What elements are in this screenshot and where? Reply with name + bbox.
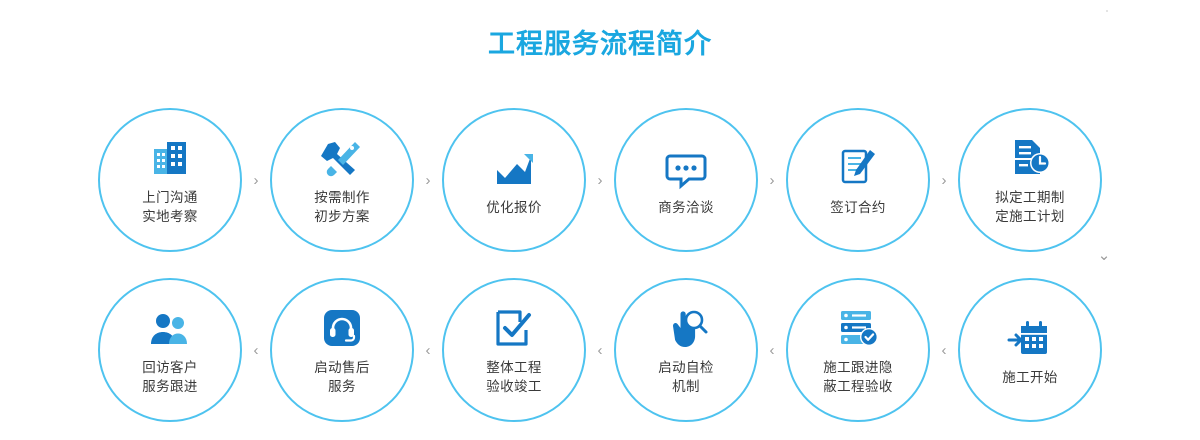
server-check-icon	[836, 304, 880, 350]
flow-node-label: 商务洽谈	[658, 198, 714, 217]
flow-node-shangmen-goutong[interactable]: 上门沟通 实地考察	[98, 108, 242, 252]
flow-node-label: 签订合约	[830, 198, 886, 217]
flow-separator: ‹	[930, 278, 958, 422]
flow-node-shigong-kaishi[interactable]: 施工开始	[958, 278, 1102, 422]
flow-node-niding-gongqi[interactable]: 拟定工期制 定施工计划	[958, 108, 1102, 252]
flow-node-label: 按需制作 初步方案	[314, 188, 370, 226]
page-title: 工程服务流程简介	[0, 22, 1200, 61]
tools-icon	[319, 134, 365, 180]
chat-bubble-icon	[663, 144, 709, 190]
flow-node-youhua-baojia[interactable]: 优化报价	[442, 108, 586, 252]
flow-separator: ›	[930, 108, 958, 252]
flow-row-2: 回访客户 服务跟进 ‹ 启动售后 服务 ‹ 整体工程 验收竣工 ‹	[0, 265, 1200, 435]
flow-node-label: 整体工程 验收竣工	[486, 358, 542, 396]
flow-node-label: 上门沟通 实地考察	[142, 188, 198, 226]
flow-row-1: 上门沟通 实地考察 › 按需制作 初步方案 › 优化报价	[0, 95, 1200, 265]
decorative-dot	[1106, 10, 1108, 12]
flow-node-label: 启动售后 服务	[314, 358, 370, 396]
flow-separator: ‹	[414, 278, 442, 422]
users-icon	[147, 304, 193, 350]
flow-separator: ‹	[586, 278, 614, 422]
flow-separator: ›	[758, 108, 786, 252]
flow-node-shigong-genjin[interactable]: 施工跟进隐 蔽工程验收	[786, 278, 930, 422]
document-clock-icon	[1008, 134, 1052, 180]
flow-node-qidong-shouhou[interactable]: 启动售后 服务	[270, 278, 414, 422]
building-icon	[148, 134, 192, 180]
flow-node-huifang-kehu[interactable]: 回访客户 服务跟进	[98, 278, 242, 422]
checkbox-icon	[492, 304, 536, 350]
calendar-arrow-icon	[1007, 314, 1053, 360]
chart-down-icon	[491, 144, 537, 190]
flow-node-label: 回访客户 服务跟进	[142, 358, 198, 396]
contract-pen-icon	[836, 144, 880, 190]
flow-node-anxu-zhizuo[interactable]: 按需制作 初步方案	[270, 108, 414, 252]
flow-separator: ‹	[242, 278, 270, 422]
flow-node-qianding-heyue[interactable]: 签订合约	[786, 108, 930, 252]
flow-separator: ‹	[758, 278, 786, 422]
flow-node-label: 启动自检 机制	[658, 358, 714, 396]
flow-node-qidong-zijian[interactable]: 启动自检 机制	[614, 278, 758, 422]
flow-node-label: 施工跟进隐 蔽工程验收	[823, 358, 893, 396]
flow-node-label: 拟定工期制 定施工计划	[995, 188, 1065, 226]
flow-separator: ›	[414, 108, 442, 252]
flow-node-shangwu-qiatan[interactable]: 商务洽谈	[614, 108, 758, 252]
flow-separator: ›	[586, 108, 614, 252]
headset-icon	[320, 304, 364, 350]
flow-node-zhengti-gongcheng[interactable]: 整体工程 验收竣工	[442, 278, 586, 422]
hand-search-icon	[663, 304, 709, 350]
flow-separator: ›	[242, 108, 270, 252]
flow-node-label: 施工开始	[1002, 368, 1058, 387]
flow-node-label: 优化报价	[486, 198, 542, 217]
